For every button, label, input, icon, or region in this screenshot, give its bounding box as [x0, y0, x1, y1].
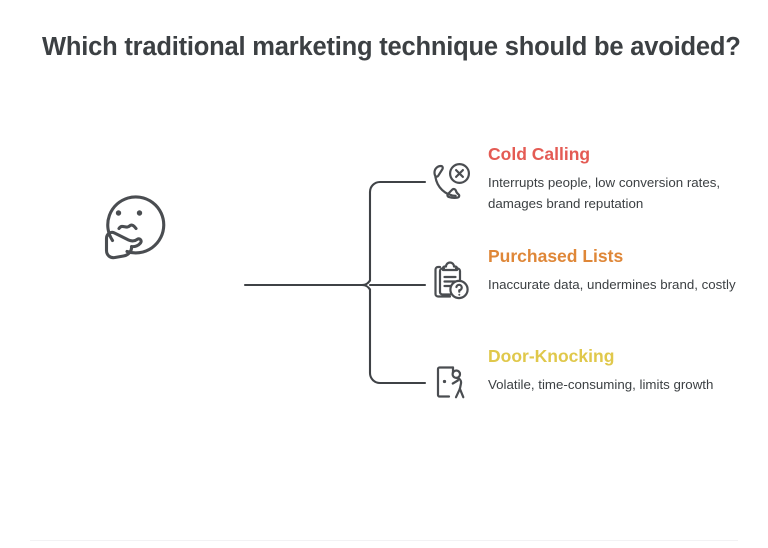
thinking-face-illustration [88, 183, 172, 267]
branch-text-block: Purchased Lists Inaccurate data, undermi… [488, 245, 736, 295]
branch-door-knocking[interactable]: Door-Knocking Volatile, time-consuming, … [428, 345, 713, 405]
branch-text-block: Cold Calling Interrupts people, low conv… [488, 143, 740, 214]
branch-description: Inaccurate data, undermines brand, costl… [488, 274, 736, 295]
connector-branch-2 [370, 290, 425, 384]
connector-branch-0 [370, 182, 425, 281]
door-knocking-person-icon [428, 359, 474, 405]
branch-description: Volatile, time-consuming, limits growth [488, 374, 713, 395]
footer-divider [30, 540, 738, 541]
branch-purchased-lists[interactable]: Purchased Lists Inaccurate data, undermi… [428, 245, 736, 305]
branch-description: Interrupts people, low conversion rates,… [488, 172, 740, 214]
thinking-face-icon [88, 183, 172, 267]
branch-cold-calling[interactable]: Cold Calling Interrupts people, low conv… [428, 143, 740, 214]
page-title: Which traditional marketing technique sh… [42, 30, 742, 64]
branch-heading: Door-Knocking [488, 346, 713, 367]
phone-call-blocked-icon [428, 159, 474, 205]
branch-heading: Purchased Lists [488, 246, 736, 267]
mindmap-canvas: Which traditional marketing technique sh… [0, 0, 768, 548]
branch-text-block: Door-Knocking Volatile, time-consuming, … [488, 345, 713, 395]
branch-heading: Cold Calling [488, 144, 740, 165]
clipboard-question-icon [428, 259, 474, 305]
